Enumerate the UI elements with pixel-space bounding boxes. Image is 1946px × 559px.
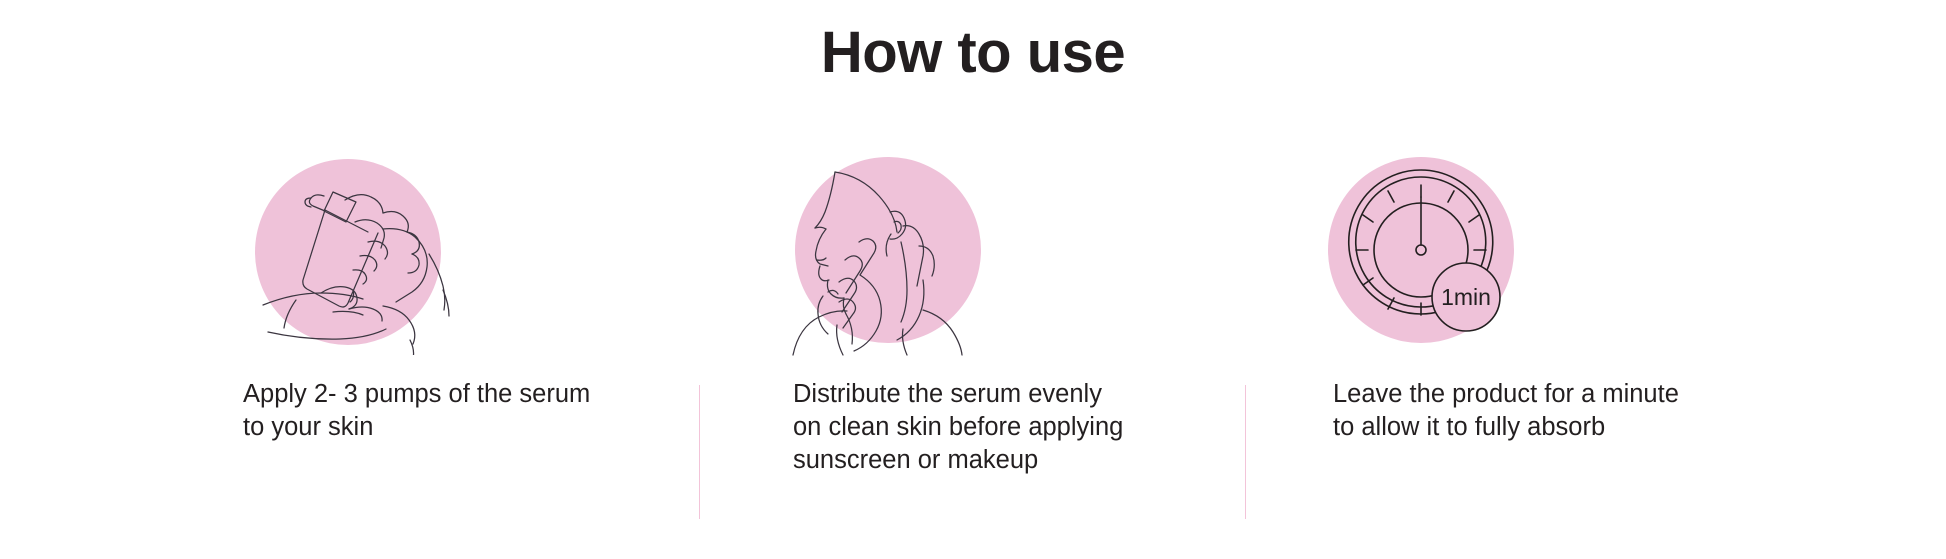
- step-3-icon-wrap: 1min: [1238, 150, 1798, 360]
- page-title: How to use: [0, 20, 1946, 87]
- step-item-1: Apply 2- 3 pumps of the serum to your sk…: [148, 150, 708, 559]
- timer-badge-label: 1min: [1441, 284, 1491, 310]
- step-item-2: Distribute the serum evenly on clean ski…: [698, 150, 1258, 559]
- face-applying-serum-icon: [773, 150, 1003, 360]
- caption-line: to allow it to fully absorb: [1333, 411, 1753, 444]
- caption-line: to your skin: [243, 411, 663, 444]
- step-2-caption: Distribute the serum evenly on clean ski…: [793, 378, 1213, 477]
- caption-line: Apply 2- 3 pumps of the serum: [243, 378, 663, 411]
- caption-line: Leave the product for a minute: [1333, 378, 1753, 411]
- step-2-icon-wrap: [698, 150, 1258, 360]
- step-1-caption: Apply 2- 3 pumps of the serum to your sk…: [243, 378, 663, 444]
- column-divider-1: [699, 385, 700, 519]
- step-3-caption: Leave the product for a minute to allow …: [1333, 378, 1753, 444]
- timer-stopwatch-icon: 1min: [1328, 150, 1528, 355]
- step-1-icon-wrap: [148, 150, 708, 360]
- step-item-3: 1min Leave the product for a minute to a…: [1238, 150, 1798, 559]
- column-divider-2: [1245, 385, 1246, 519]
- caption-line: on clean skin before applying: [793, 411, 1213, 444]
- how-to-use-section: How to use: [0, 0, 1946, 559]
- caption-line: sunscreen or makeup: [793, 444, 1213, 477]
- steps-container: Apply 2- 3 pumps of the serum to your sk…: [0, 150, 1946, 559]
- caption-line: Distribute the serum evenly: [793, 378, 1213, 411]
- hands-pump-bottle-icon: [233, 150, 463, 355]
